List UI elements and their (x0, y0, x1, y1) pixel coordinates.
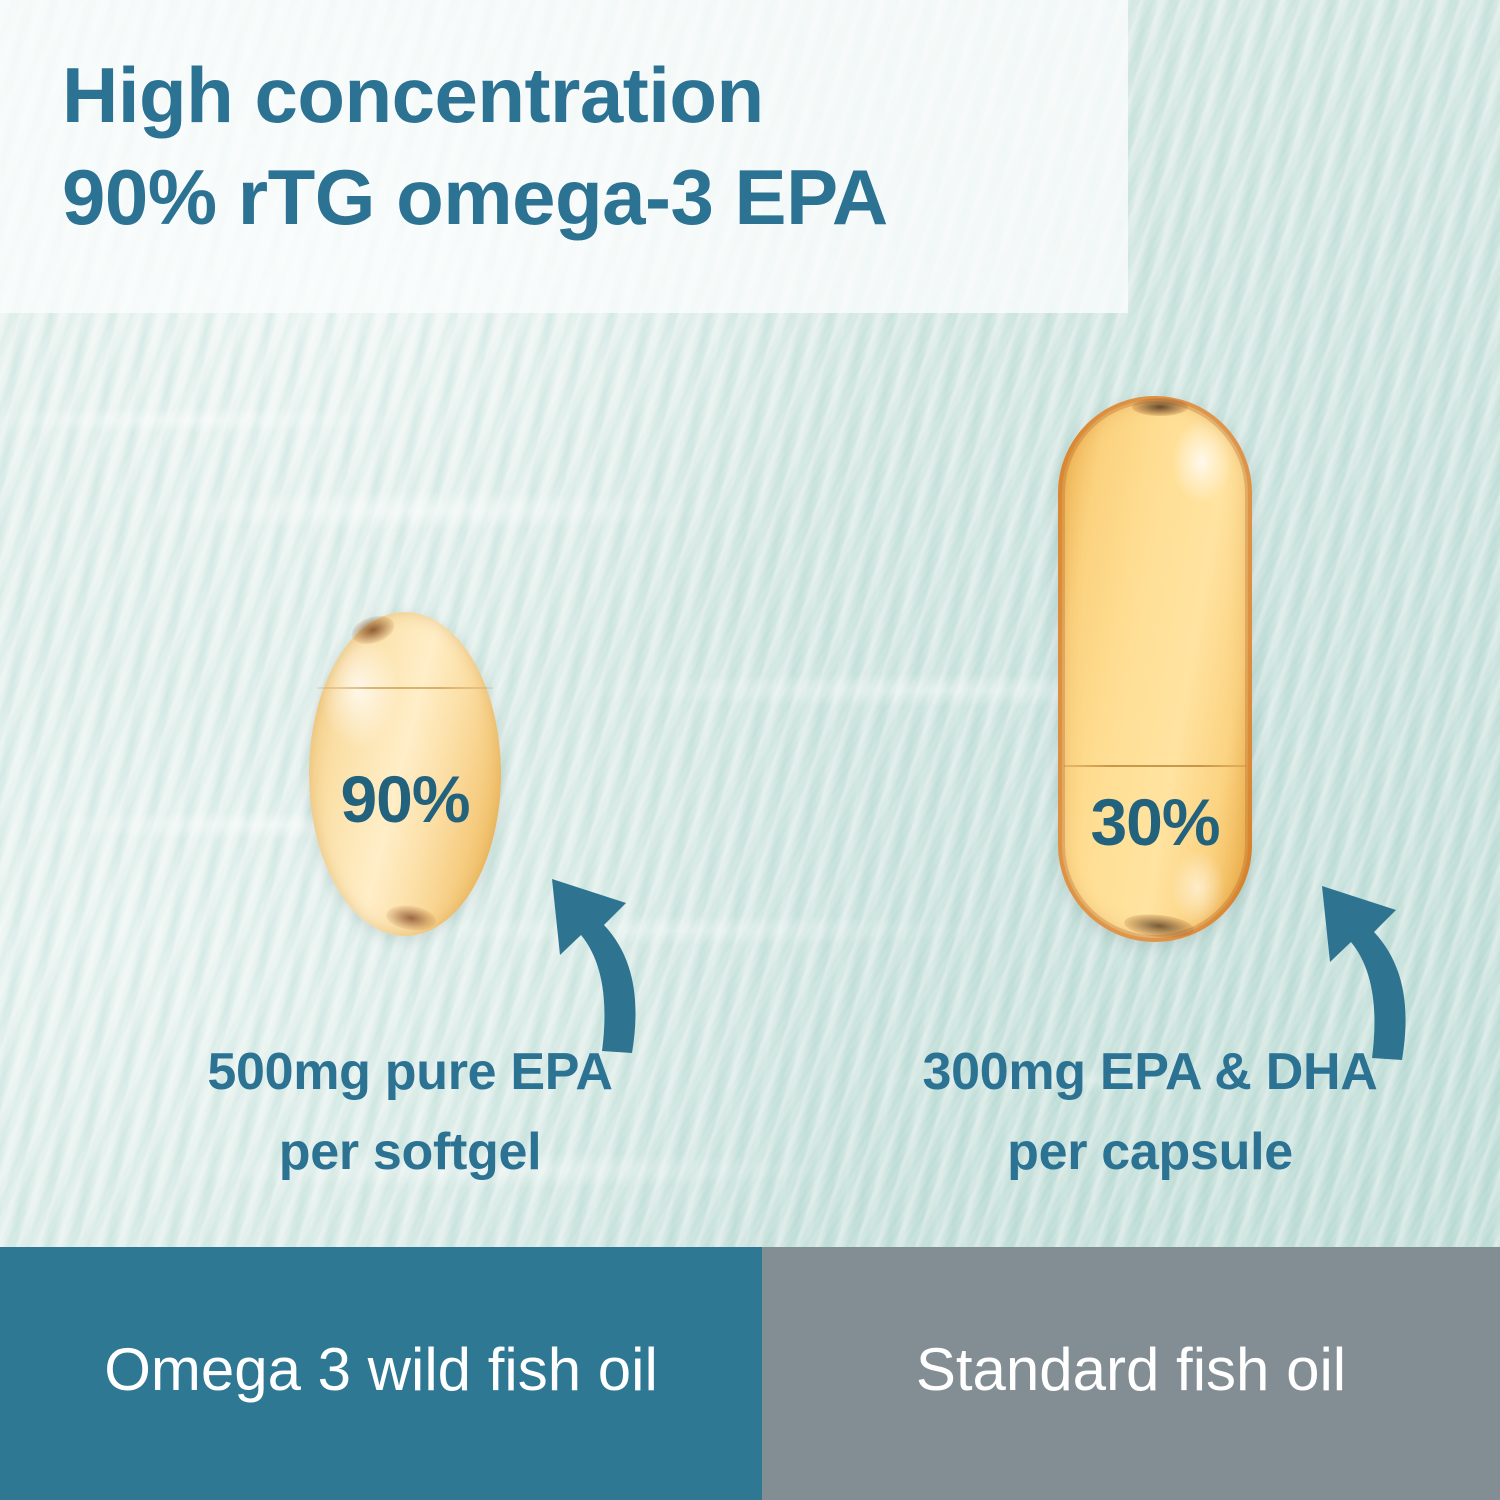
softgel-percent-label: 90% (309, 761, 501, 837)
bar-standard-label: Standard fish oil (916, 1335, 1346, 1404)
headline-panel: High concentration 90% rTG omega-3 EPA (0, 0, 1128, 313)
softgel-capsule-omega3: 90% (309, 612, 501, 936)
bar-omega3-wild-fish-oil: Omega 3 wild fish oil (0, 1247, 762, 1500)
capsule-rim (1058, 396, 1252, 942)
bar-standard-fish-oil: Standard fish oil (762, 1247, 1500, 1500)
bar-omega3-label: Omega 3 wild fish oil (104, 1335, 658, 1404)
caption-omega3-line-1: 500mg pure EPA (120, 1032, 700, 1112)
capsule-standard-fish-oil: 30% (1058, 396, 1252, 942)
capsule-top-blemish (1132, 398, 1188, 416)
caption-standard-line-1: 300mg EPA & DHA (840, 1032, 1460, 1112)
comparison-bars: Omega 3 wild fish oil Standard fish oil (0, 1247, 1500, 1500)
capsule-percent-label: 30% (1058, 784, 1252, 860)
capsule-seam-line (1064, 765, 1246, 767)
caption-standard: 300mg EPA & DHA per capsule (840, 1032, 1460, 1192)
caption-omega3: 500mg pure EPA per softgel (120, 1032, 700, 1192)
curved-arrow-up-left-icon (536, 855, 666, 1055)
caption-omega3-line-2: per softgel (120, 1112, 700, 1192)
headline: High concentration 90% rTG omega-3 EPA (62, 44, 1082, 248)
headline-line-2: 90% rTG omega-3 EPA (62, 146, 1082, 248)
softgel-seam-line (317, 687, 494, 689)
softgel-bottom-blemish (384, 902, 437, 933)
headline-line-1: High concentration (62, 44, 1082, 146)
omega3-comparison-infographic: High concentration 90% rTG omega-3 EPA 9… (0, 0, 1500, 1500)
caption-standard-line-2: per capsule (840, 1112, 1460, 1192)
